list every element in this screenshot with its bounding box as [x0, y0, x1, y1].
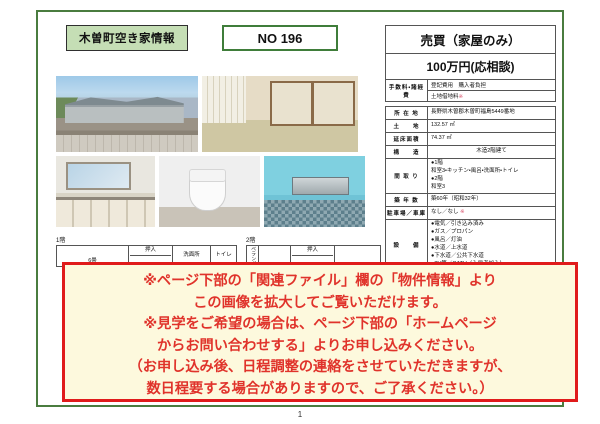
info-value-layout: ●1階 和室3・キッチン・風呂・洗面所・トイレ ●2階 和室3 — [428, 159, 556, 194]
equipment-item-gas: ●ガス／プロパン — [431, 229, 552, 237]
notice-line-6: 数日程要する場合がありますので、ご了承ください。） — [69, 379, 571, 401]
notice-line-1: ※ページ下部の「関連ファイル」欄の「物件情報」より — [69, 271, 571, 293]
info-value-address: 長野県木曽郡木曽町福島5449番地 — [428, 107, 556, 120]
info-fee-line-2: 土地借地料※ — [428, 91, 555, 101]
equipment-item-sewer: ●下水道／公共下水道 — [431, 253, 552, 261]
photo-bathroom[interactable] — [264, 156, 365, 227]
photo-toilet-image — [159, 156, 260, 227]
notice-line-4: からお問い合わせする」よりお申し込みください。 — [69, 336, 571, 358]
info-row-land: 土 地 132.57 ㎡ — [386, 120, 556, 133]
info-label-floorarea: 延床面積 — [386, 133, 428, 146]
photo-exterior-image — [56, 76, 198, 152]
info-parking-mark: ※ — [460, 209, 465, 215]
page-number: 1 — [0, 410, 600, 419]
layout-line-2: 和室3・キッチン・風呂・洗面所・トイレ — [431, 168, 552, 176]
photo-toilet[interactable] — [159, 156, 260, 227]
info-title: 売買（家屋のみ） — [386, 26, 556, 54]
info-label-land: 土 地 — [386, 120, 428, 133]
info-row-age: 築 年 数 築60年（昭和32年） — [386, 193, 556, 206]
info-label-structure: 構 造 — [386, 146, 428, 159]
photo-kitchen-image — [56, 156, 155, 227]
info-row-structure: 構 造 木造2階建て — [386, 146, 556, 159]
page-frame: 木曽町空き家情報 NO 196 1階 6畳 押入 — [36, 10, 564, 407]
notice-line-3: ※見学をご希望の場合は、ページ下部の「ホームページ — [69, 314, 571, 336]
info-row-address: 所 在 地 長野県木曽郡木曽町福島5449番地 — [386, 107, 556, 120]
info-fee-line-2-text: 土地借地料 — [431, 94, 459, 100]
header-banner: 木曽町空き家情報 — [66, 25, 188, 51]
info-value-age: 築60年（昭和32年） — [428, 193, 556, 206]
photo-exterior[interactable] — [56, 76, 198, 152]
equipment-item-water: ●水道／上水道 — [431, 245, 552, 253]
equipment-item-electricity: ●電気／引き込み済み — [431, 221, 552, 229]
notice-box: ※ページ下部の「関連ファイル」欄の「物件情報」より この画像を拡大してご覧いただ… — [62, 262, 578, 402]
info-label-parking: 駐車場／車庫 — [386, 206, 428, 219]
photo-gallery — [56, 76, 376, 231]
layout-line-3: ●2階 — [431, 176, 552, 184]
info-value-floorarea: 74.37 ㎡ — [428, 133, 556, 146]
info-row-title: 売買（家屋のみ） — [386, 26, 556, 54]
info-value-parking: なし／なし ※ — [428, 206, 556, 219]
info-fee-line-1: 登記費用 購入者負担 — [428, 80, 555, 91]
notice-line-5: （お申し込み後、日程調整の連絡をさせていただきますが、 — [69, 357, 571, 379]
info-label-age: 築 年 数 — [386, 193, 428, 206]
floorplan-room-oshiire-1f-label: 押入 — [130, 246, 171, 256]
info-row-layout: 間 取 り ●1階 和室3・キッチン・風呂・洗面所・トイレ ●2階 和室3 — [386, 159, 556, 194]
photo-bathroom-image — [264, 156, 365, 227]
info-price: 100万円(応相談) — [386, 54, 556, 80]
info-row-fees: 手数料・諸経費 登記費用 購入者負担 土地借地料※ — [386, 80, 556, 102]
photo-tatami-room[interactable] — [202, 76, 358, 152]
info-value-fees: 登記費用 購入者負担 土地借地料※ — [428, 80, 556, 102]
info-label-address: 所 在 地 — [386, 107, 428, 120]
notice-line-2: この画像を拡大してご覧いただけます。 — [69, 293, 571, 315]
photo-kitchen[interactable] — [56, 156, 155, 227]
equipment-item-bath: ●風呂／灯油 — [431, 237, 552, 245]
info-label-layout: 間 取 り — [386, 159, 428, 194]
info-row-parking: 駐車場／車庫 なし／なし ※ — [386, 206, 556, 219]
info-row-floorarea: 延床面積 74.37 ㎡ — [386, 133, 556, 146]
listing-number-box: NO 196 — [222, 25, 338, 51]
info-fee-mark: ※ — [459, 94, 464, 100]
floorplan-floor1-title: 1階 — [56, 235, 237, 244]
info-value-structure: 木造2階建て — [428, 146, 556, 159]
info-label-fees: 手数料・諸経費 — [386, 80, 428, 102]
floorplan-room-oshiire-2f-label: 押入 — [292, 246, 333, 256]
info-parking-text: なし／なし — [431, 209, 459, 215]
floorplan-floor2-title: 2階 — [246, 235, 381, 244]
property-info-table: 売買（家屋のみ） 100万円(応相談) 手数料・諸経費 登記費用 購入者負担 土… — [385, 25, 556, 271]
info-value-land: 132.57 ㎡ — [428, 120, 556, 133]
layout-line-4: 和室3 — [431, 184, 552, 192]
info-row-price: 100万円(応相談) — [386, 54, 556, 80]
photo-tatami-room-image — [202, 76, 358, 152]
layout-line-1: ●1階 — [431, 160, 552, 168]
